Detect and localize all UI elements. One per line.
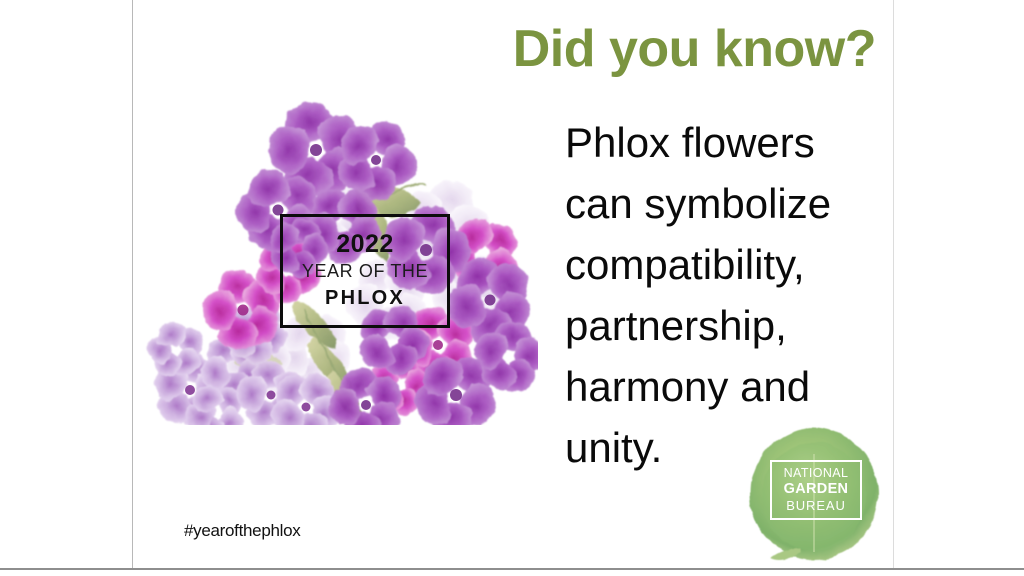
year-of-the-phlox-badge: 2022 YEAR OF THE PHLOX <box>280 214 450 328</box>
slide-border-right <box>893 0 894 569</box>
slide-canvas: Did you know? Phlox flowers can symboliz… <box>133 0 893 568</box>
logo-line-national: NATIONAL <box>784 466 849 481</box>
page-title: Did you know? <box>513 22 876 77</box>
badge-plant: PHLOX <box>325 285 405 311</box>
national-garden-bureau-logo: NATIONAL GARDEN BUREAU <box>738 420 890 568</box>
body-line: harmony and <box>565 356 885 417</box>
hashtag-text: #yearofthephlox <box>184 521 300 541</box>
badge-subtitle: YEAR OF THE <box>302 259 428 283</box>
badge-year: 2022 <box>336 231 394 257</box>
body-line: Phlox flowers <box>565 112 885 173</box>
body-line: partnership, <box>565 295 885 356</box>
logo-line-garden: GARDEN <box>784 481 849 498</box>
body-line: compatibility, <box>565 234 885 295</box>
body-line: can symbolize <box>565 173 885 234</box>
slide: Did you know? Phlox flowers can symboliz… <box>0 0 1024 576</box>
logo-line-bureau: BUREAU <box>786 498 846 513</box>
logo-text-box: NATIONAL GARDEN BUREAU <box>770 460 862 520</box>
slide-border-bottom <box>0 568 1024 570</box>
